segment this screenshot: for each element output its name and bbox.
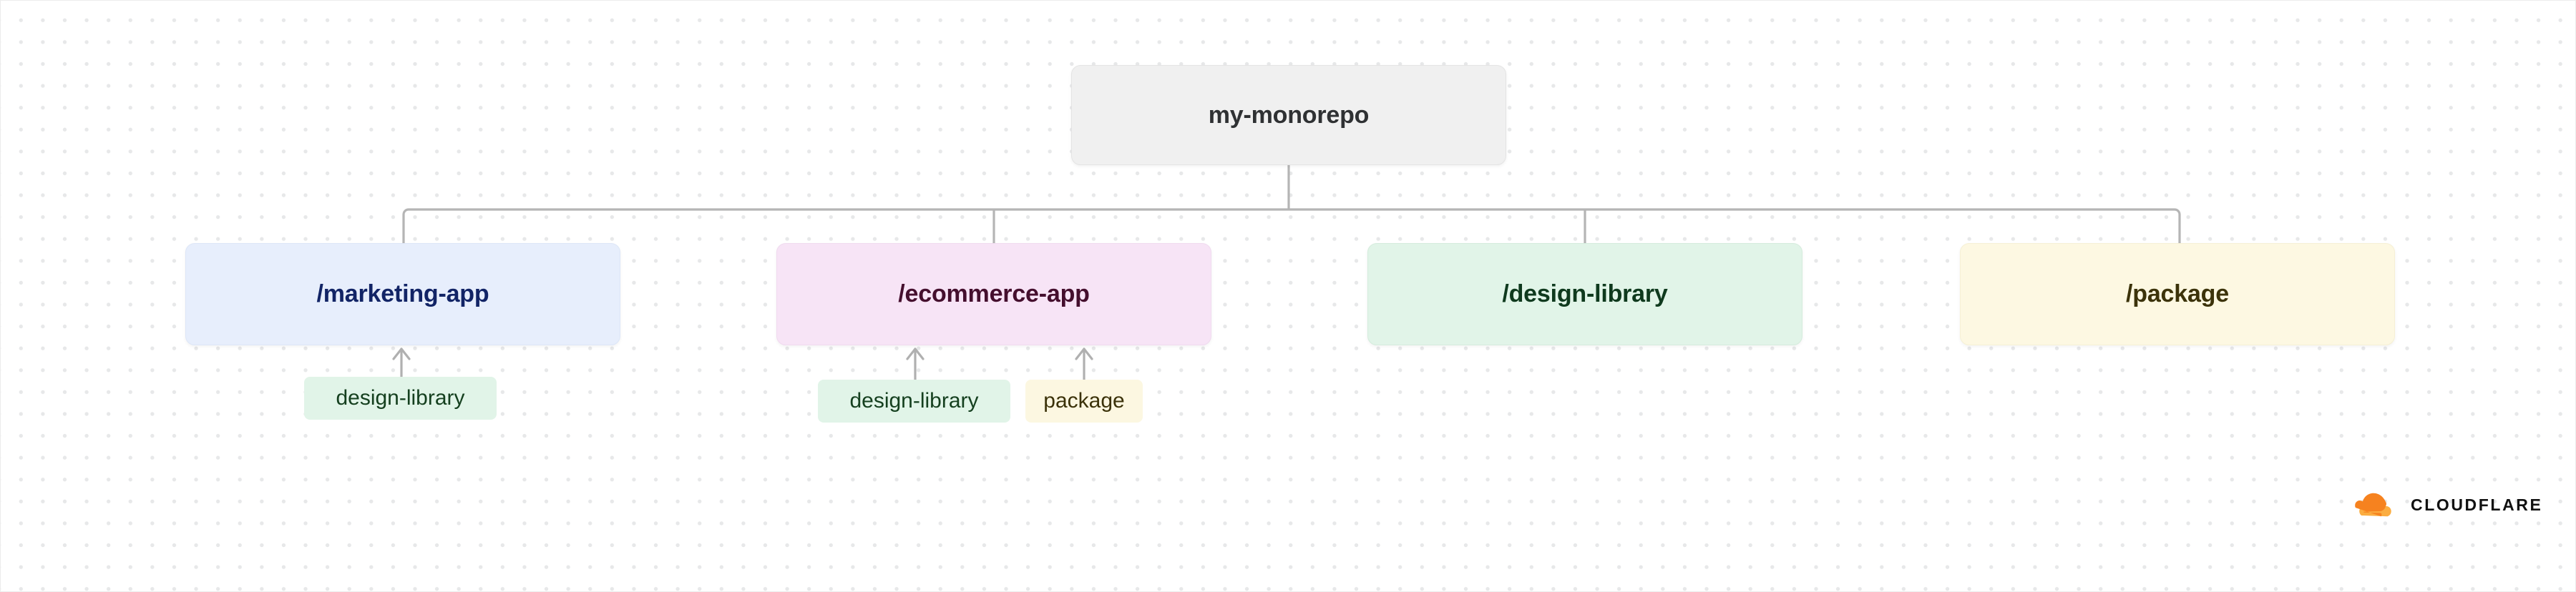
dep-arrowhead-ecommerce-design-library xyxy=(907,349,923,359)
cloudflare-logo: CLOUDFLARE xyxy=(2354,490,2542,520)
dependency-tag-label: package xyxy=(1043,389,1124,413)
edge-to-marketing xyxy=(404,209,409,243)
dependency-tag-label: design-library xyxy=(849,389,978,413)
dep-arrowhead-ecommerce-package xyxy=(1076,349,1092,359)
dependency-tag-label: design-library xyxy=(336,386,464,410)
dependency-tag-ecommerce-package[interactable]: package xyxy=(1025,380,1143,423)
node-label: my-monorepo xyxy=(1209,102,1369,129)
node-marketing-app[interactable]: /marketing-app xyxy=(185,243,620,345)
node-label: /package xyxy=(2126,280,2229,308)
diagram-canvas: my-monorepo /marketing-app /ecommerce-ap… xyxy=(0,0,2576,592)
cloudflare-cloud-icon xyxy=(2354,490,2401,520)
node-label: /design-library xyxy=(1502,280,1667,308)
node-label: /ecommerce-app xyxy=(898,280,1089,308)
edge-to-package xyxy=(2175,209,2180,243)
node-package[interactable]: /package xyxy=(1960,243,2395,345)
cloudflare-wordmark: CLOUDFLARE xyxy=(2411,497,2542,513)
node-my-monorepo[interactable]: my-monorepo xyxy=(1071,65,1506,165)
node-label: /marketing-app xyxy=(317,280,489,308)
dependency-tag-marketing-design-library[interactable]: design-library xyxy=(304,377,497,420)
node-ecommerce-app[interactable]: /ecommerce-app xyxy=(776,243,1211,345)
dep-arrowhead-marketing-design-library xyxy=(394,349,409,359)
node-design-library[interactable]: /design-library xyxy=(1367,243,1802,345)
dependency-tag-ecommerce-design-library[interactable]: design-library xyxy=(818,380,1010,423)
